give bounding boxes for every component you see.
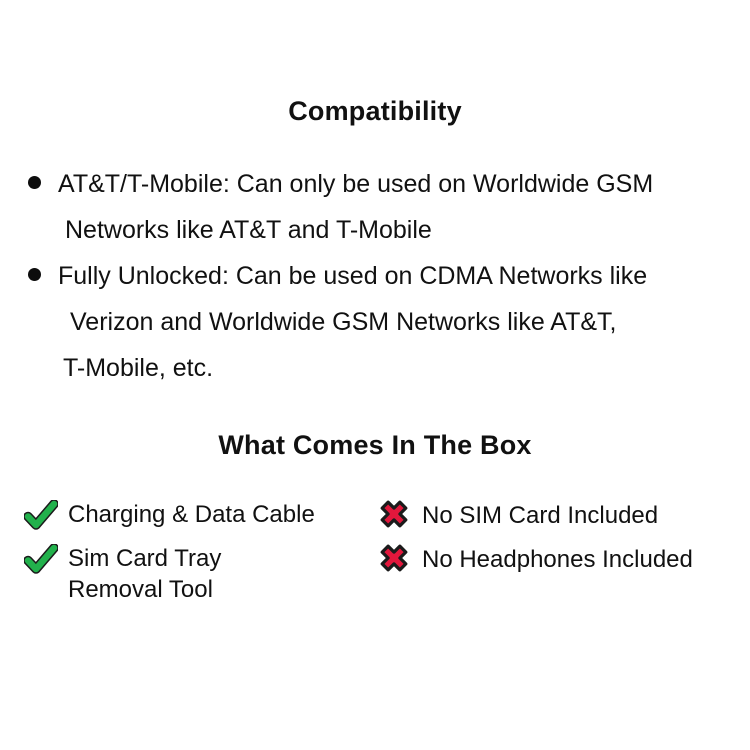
red-cross-icon [376,498,412,530]
list-item-label: No SIM Card Included [422,496,658,531]
compatibility-list: AT&T/T-Mobile: Can only be used on World… [28,160,734,390]
filled-circle-bullet-icon [28,176,41,189]
included-items-column: Charging & Data Cable Sim Card Tray Remo… [24,496,364,612]
list-item: Fully Unlocked: Can be used on CDMA Netw… [28,252,734,298]
list-item-continuation: Verizon and Worldwide GSM Networks like … [28,298,734,344]
compatibility-heading: Compatibility [0,96,750,127]
list-item-continuation: T-Mobile, etc. [28,344,734,390]
list-item-label: AT&T/T-Mobile: Can only be used on World… [41,161,653,207]
list-item: No SIM Card Included [376,496,736,540]
list-item: AT&T/T-Mobile: Can only be used on World… [28,160,734,206]
red-cross-icon [376,542,412,574]
list-item-label: Charging & Data Cable [68,496,315,530]
list-item-label: Verizon and Worldwide GSM Networks like … [28,299,617,345]
list-item: No Headphones Included [376,540,736,584]
product-info-panel: Compatibility AT&T/T-Mobile: Can only be… [0,0,750,750]
filled-circle-bullet-icon [28,268,41,281]
list-item-label: Networks like AT&T and T-Mobile [28,207,432,253]
list-item-continuation: Networks like AT&T and T-Mobile [28,206,734,252]
green-check-icon [24,500,58,530]
whats-in-the-box-columns: Charging & Data Cable Sim Card Tray Remo… [0,496,750,626]
whats-in-the-box-heading: What Comes In The Box [0,430,750,461]
list-item: Charging & Data Cable [24,496,364,540]
green-check-icon [24,544,58,574]
list-item: Sim Card Tray Removal Tool [24,540,364,612]
excluded-items-column: No SIM Card Included No Headphones Inclu… [376,496,736,584]
list-item-label: Sim Card Tray Removal Tool [68,540,221,605]
list-item-label: Fully Unlocked: Can be used on CDMA Netw… [41,253,647,299]
list-item-label: No Headphones Included [422,540,693,575]
list-item-label: T-Mobile, etc. [28,345,213,391]
